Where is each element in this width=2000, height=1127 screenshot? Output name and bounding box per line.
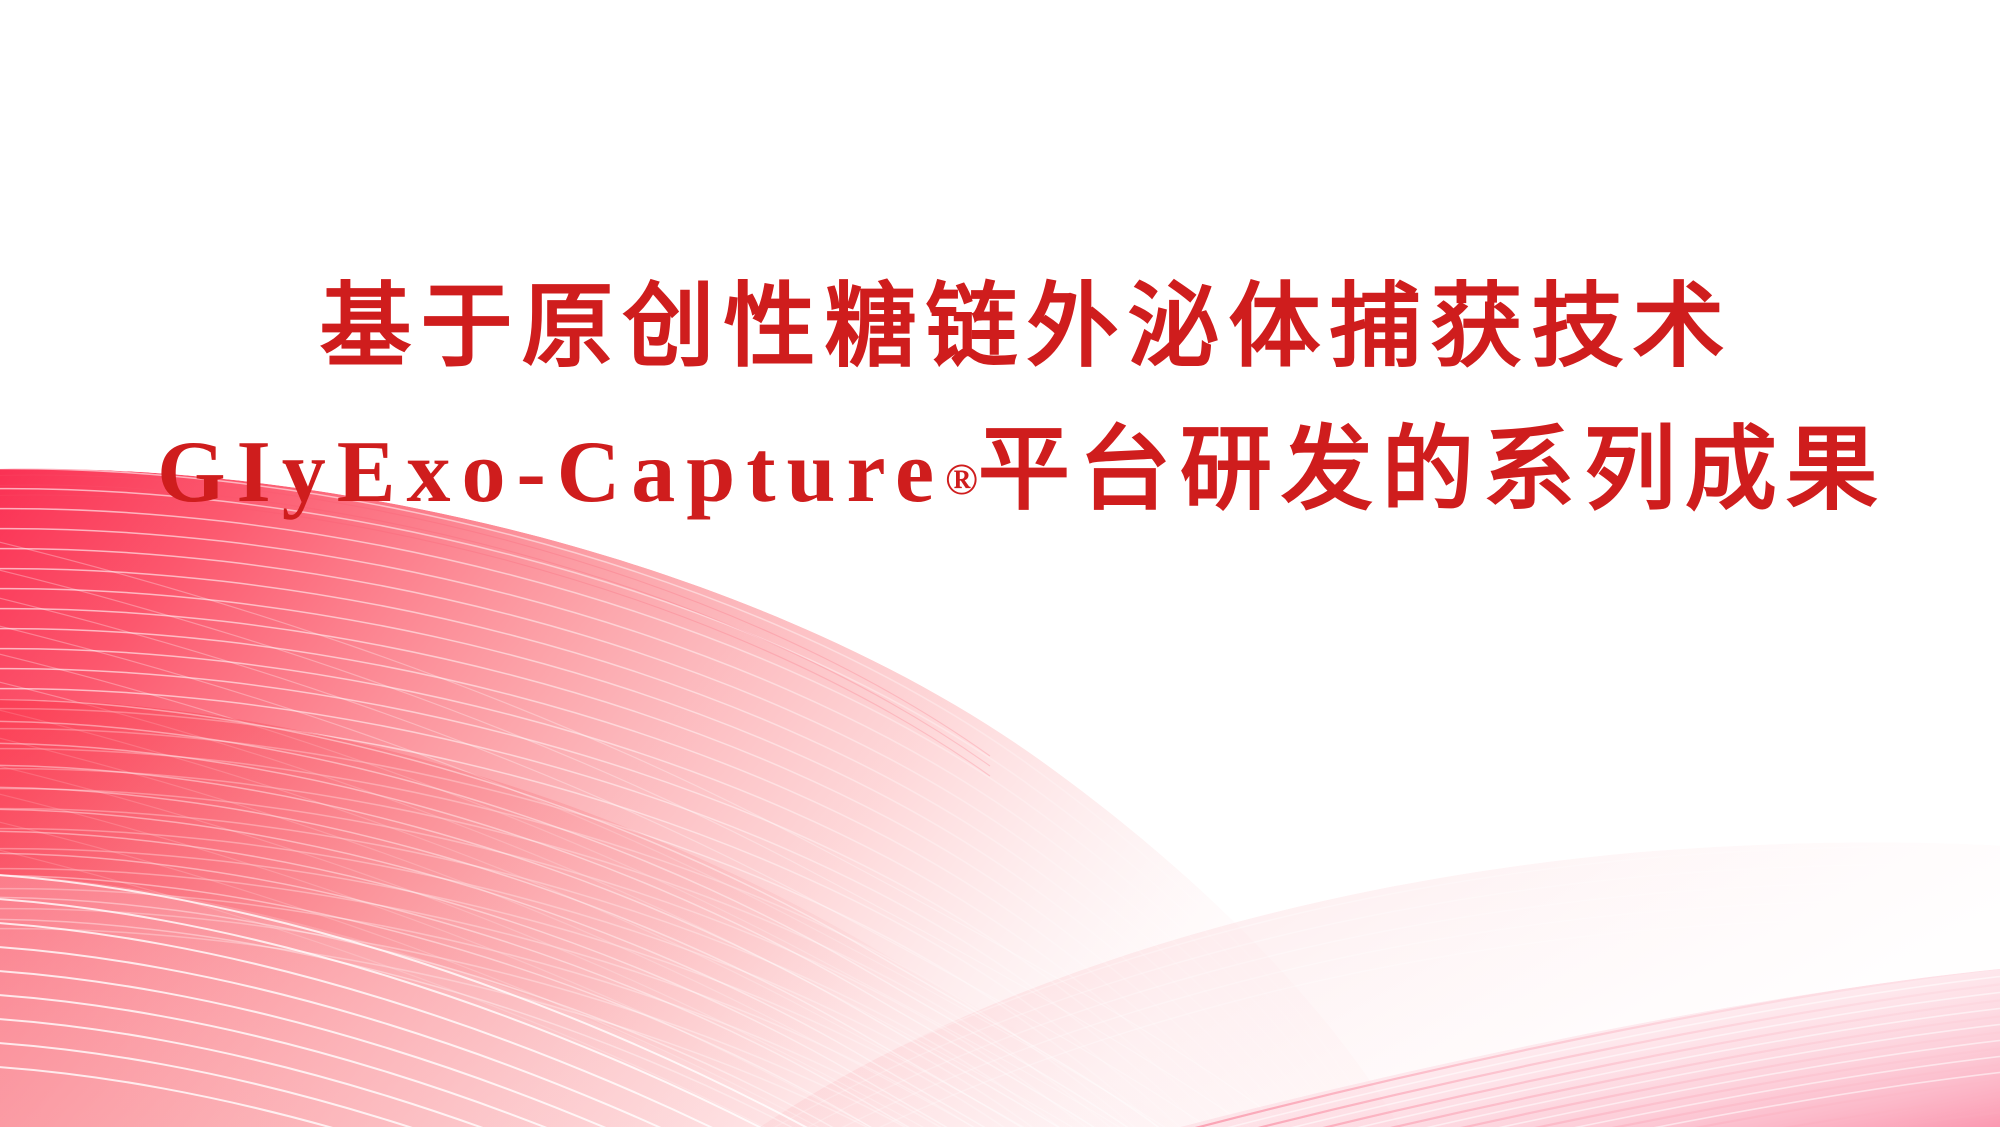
registered-trademark-icon: ® [945, 455, 978, 504]
title-line-secondary: GIyExo-Capture®平台研发的系列成果 [22, 424, 2000, 517]
wave-band-secondary [0, 699, 1180, 1127]
wave-band-primary [0, 469, 1400, 1127]
platform-name-han: 平台研发的系列成果 [978, 419, 1887, 521]
wave-band-bottom-right [1180, 962, 2000, 1127]
wave-band-pale-left [0, 872, 820, 1127]
title-line-primary: 基于原创性糖链外泌体捕获技术 [22, 281, 2000, 373]
wave-band-right-faint [700, 721, 2000, 1127]
platform-name-latin: GIyExo-Capture [157, 424, 945, 521]
slide-canvas: 基于原创性糖链外泌体捕获技术 GIyExo-Capture®平台研发的系列成果 [0, 0, 2000, 1127]
abstract-wave-decoration [0, 0, 2000, 1127]
